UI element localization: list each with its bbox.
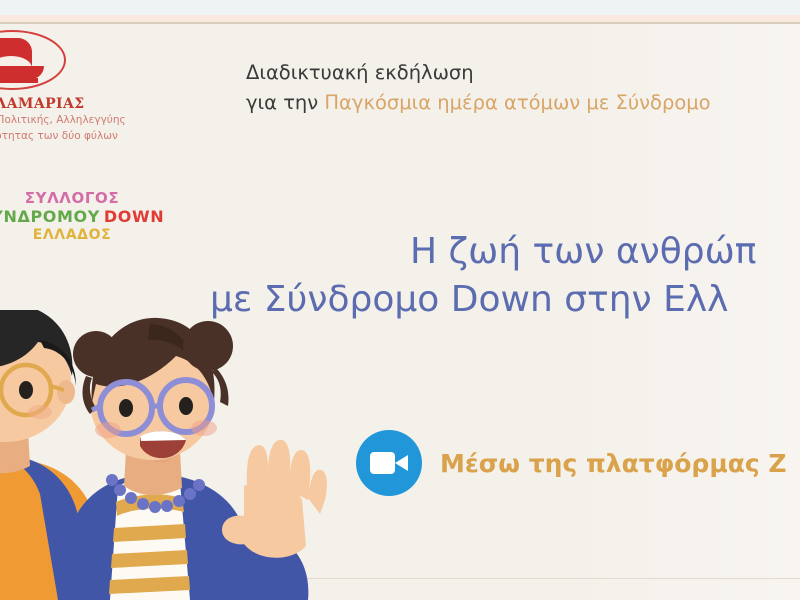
event-banner: Σ ΚΑΛΑΜΑΡΙΑΣ ωνικής Πολιτικής, Αλληλεγγύ… — [0, 0, 800, 600]
association-logo-line-2: ΣΥΝΔΡΟΜΟΥDOWN — [0, 208, 172, 227]
waving-hand — [214, 440, 327, 600]
top-white-band — [0, 0, 800, 15]
main-headline-line-1: Η ζωή των ανθρώπ — [170, 228, 800, 276]
header-copy: Διαδικτυακή εκδήλωση για την Παγκόσμια η… — [246, 58, 800, 118]
hair-bun-right — [183, 321, 233, 371]
platform-label: Μέσω της πλατφόρμας Ζ — [440, 449, 787, 478]
association-logo: ΣΥΛΛΟΓΟΣ ΣΥΝΔΡΟΜΟΥDOWN ΕΛΛΑΔΟΣ — [0, 190, 172, 243]
camera-lens-shape — [395, 455, 408, 471]
header-line-2-prefix: για την — [246, 91, 324, 114]
ship-base-shape — [0, 78, 38, 83]
association-logo-line-3: ΕΛΛΑΔΟΣ — [0, 227, 172, 244]
municipality-name: Σ ΚΑΛΑΜΑΡΙΑΣ — [0, 96, 174, 112]
zoom-video-camera-icon — [356, 430, 422, 496]
municipality-logo: Σ ΚΑΛΑΜΑΡΙΑΣ ωνικής Πολιτικής, Αλληλεγγύ… — [0, 28, 174, 145]
header-line-2-accent: Παγκόσμια ημέρα ατόμων με Σύνδρομο — [324, 91, 710, 114]
association-logo-syndromou: ΣΥΝΔΡΟΜΟΥ — [0, 207, 100, 226]
association-logo-line-1: ΣΥΛΛΟΓΟΣ — [0, 190, 172, 208]
header-line-2: για την Παγκόσμια ημέρα ατόμων με Σύνδρο… — [246, 88, 800, 118]
platform-row: Μέσω της πλατφόρμας Ζ — [356, 430, 787, 496]
municipality-subtitle-line-1: ωνικής Πολιτικής, Αλληλεγγύης — [0, 112, 174, 128]
video-camera-glyph — [370, 452, 408, 474]
ship-emblem-icon — [0, 28, 72, 94]
municipality-subtitle-line-2: ς και Ισότητας των δύο φύλων — [0, 128, 174, 144]
hair-bun-left — [73, 331, 119, 377]
camera-body-shape — [370, 452, 395, 474]
peach-band — [0, 15, 800, 22]
association-logo-down: DOWN — [104, 207, 164, 226]
two-children-illustration — [0, 310, 360, 600]
header-line-1: Διαδικτυακή εκδήλωση — [246, 58, 800, 88]
